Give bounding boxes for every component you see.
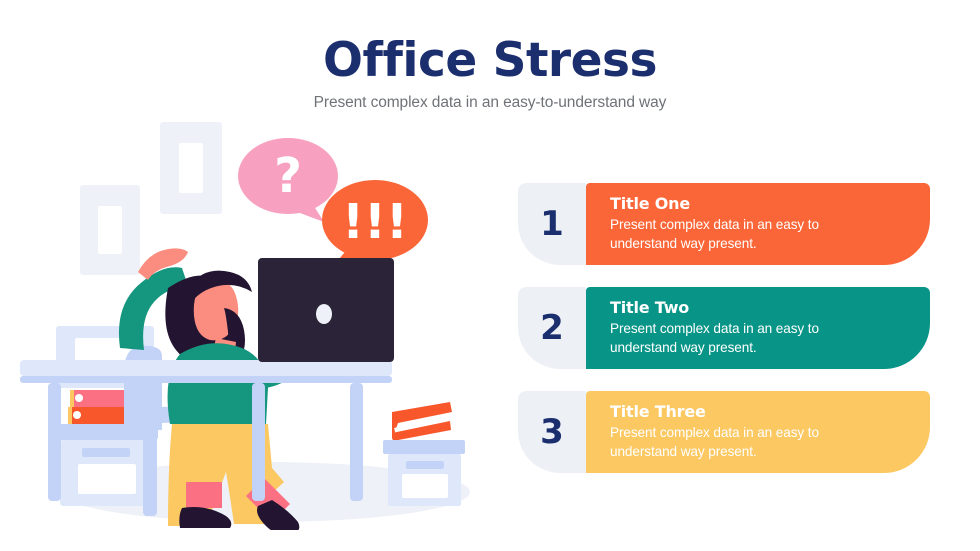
card-body-3: Title Three Present complex data in an e… — [586, 391, 930, 473]
exclamation-marks-glyph: !!! — [342, 194, 408, 250]
card-number-3: 3 — [540, 415, 564, 449]
question-mark-glyph: ? — [274, 148, 302, 204]
card-body-1: Title One Present complex data in an eas… — [586, 183, 930, 265]
slide-header: Office Stress Present complex data in an… — [0, 36, 980, 112]
card-number-box-3: 3 — [518, 391, 586, 473]
wall-frame-right-icon — [160, 122, 222, 214]
page-title: Office Stress — [0, 36, 980, 85]
card-body-2: Title Two Present complex data in an eas… — [586, 287, 930, 369]
info-card-2[interactable]: 2 Title Two Present complex data in an e… — [518, 287, 930, 369]
card-description-2: Present complex data in an easy to under… — [610, 320, 865, 358]
laptop-icon — [258, 258, 394, 362]
card-title-2: Title Two — [610, 299, 910, 317]
info-card-list: 1 Title One Present complex data in an e… — [518, 183, 930, 495]
wall-frame-left-icon — [80, 185, 140, 275]
info-card-1[interactable]: 1 Title One Present complex data in an e… — [518, 183, 930, 265]
card-title-3: Title Three — [610, 403, 910, 421]
card-description-3: Present complex data in an easy to under… — [610, 424, 865, 462]
question-speech-bubble-icon: ? — [238, 138, 338, 222]
stressed-woman-illustration: ? !!! — [20, 110, 500, 530]
card-number-2: 2 — [540, 311, 564, 345]
card-number-box-1: 1 — [518, 183, 586, 265]
info-card-3[interactable]: 3 Title Three Present complex data in an… — [518, 391, 930, 473]
slide-canvas: Office Stress Present complex data in an… — [0, 0, 980, 551]
card-number-box-2: 2 — [518, 287, 586, 369]
card-description-1: Present complex data in an easy to under… — [610, 216, 865, 254]
book-box-icon — [383, 402, 465, 506]
card-title-1: Title One — [610, 195, 910, 213]
card-number-1: 1 — [540, 207, 564, 241]
